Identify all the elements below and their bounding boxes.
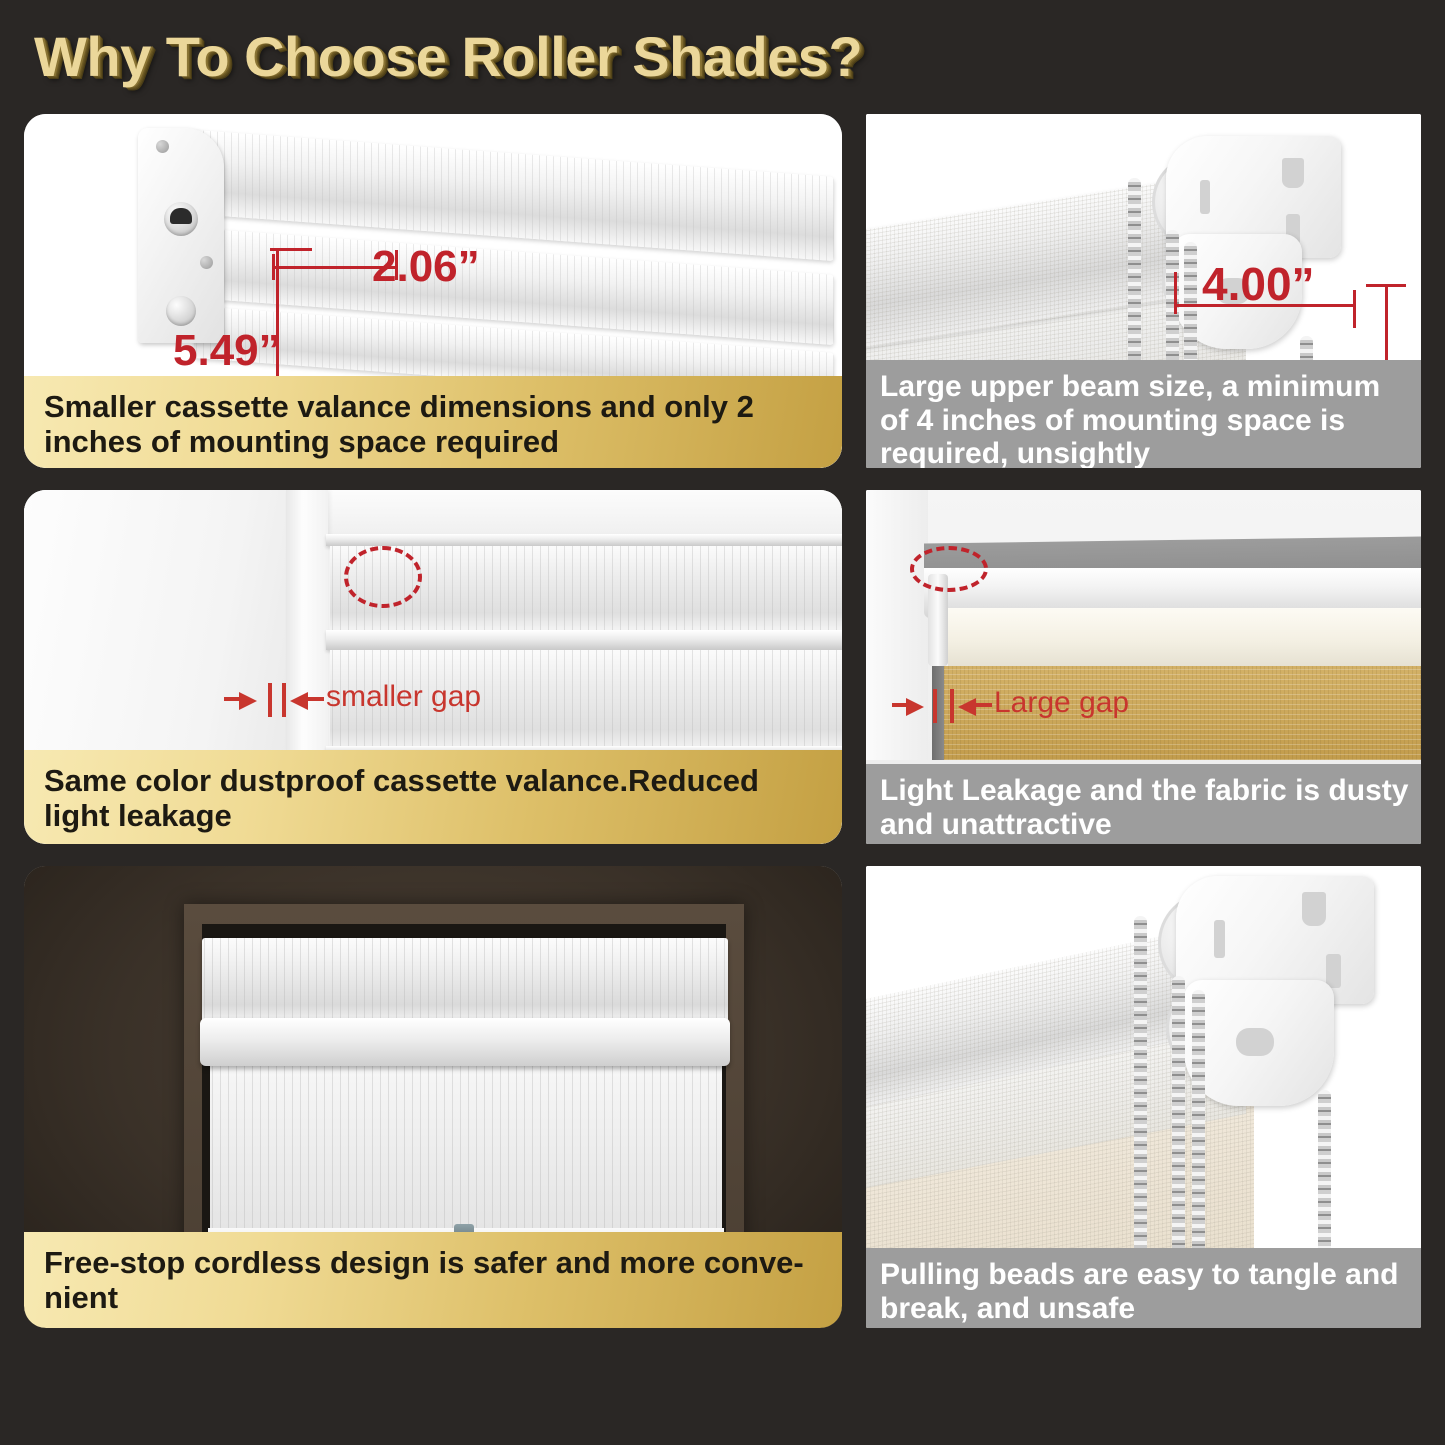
shade-middle-rail xyxy=(326,630,842,650)
caption-text: Large upper beam size, a minimum of 4 in… xyxy=(880,370,1409,468)
panel-top-right: 4.00” 4.00” Large upper beam size, a min… xyxy=(866,114,1421,468)
cassette-top-edge xyxy=(326,534,842,546)
gap-marker-bar xyxy=(282,683,286,717)
gap-arrow-tail xyxy=(892,703,910,707)
gap-callout-label: Large gap xyxy=(994,686,1129,720)
caption-panel-bottom-left: Free-stop cordless design is safer and m… xyxy=(24,1232,842,1328)
valance-end-cap xyxy=(138,128,224,343)
caption-panel-middle-right: Light Leakage and the fabric is dusty an… xyxy=(866,764,1421,844)
caption-text: Smaller cassette valance dimensions and … xyxy=(44,390,824,459)
caption-text: Pulling beads are easy to tangle and bre… xyxy=(880,1258,1409,1325)
gap-arrow-left-icon xyxy=(290,692,308,710)
window-frame-header xyxy=(286,490,842,534)
gap-arrow-right-icon xyxy=(906,698,924,716)
caption-panel-bottom-right: Pulling beads are easy to tangle and bre… xyxy=(866,1248,1421,1328)
screw-icon xyxy=(200,256,213,269)
page-title: Why To Choose Roller Shades? xyxy=(34,24,862,89)
height-dimension-label: 5.49” xyxy=(173,326,281,376)
wall-surface xyxy=(24,490,296,750)
window-frame-moulding xyxy=(286,490,328,750)
caption-text: Free-stop cordless design is safer and m… xyxy=(44,1246,804,1315)
screw-icon xyxy=(156,140,169,153)
highlight-ellipse-icon xyxy=(344,546,422,608)
beam-width-dimension-label: 4.00” xyxy=(1202,257,1315,311)
gap-arrow-left-icon xyxy=(958,698,976,716)
end-cap-bearing xyxy=(166,296,196,326)
white-valance-strip xyxy=(948,608,1421,666)
infographic-page: Why To Choose Roller Shades? 2.06” xyxy=(0,0,1445,1445)
caption-panel-top-right: Large upper beam size, a minimum of 4 in… xyxy=(866,360,1421,468)
caption-text: Same color dustproof cassette valance.Re… xyxy=(44,764,824,833)
gap-marker-bar xyxy=(950,689,954,723)
beam-width-tick-right xyxy=(1353,290,1356,328)
panel-middle-right: Large gap Light Leakage and the fabric i… xyxy=(866,490,1421,844)
caption-panel-top-left: Smaller cassette valance dimensions and … xyxy=(24,376,842,468)
width-dimension-label: 2.06” xyxy=(372,242,480,292)
mounting-bracket-lower xyxy=(1184,980,1334,1106)
shade-fabric-panel xyxy=(210,1062,722,1238)
gap-arrow-tail xyxy=(308,697,324,701)
gap-callout-label: smaller gap xyxy=(326,680,481,714)
header: Why To Choose Roller Shades? xyxy=(0,0,1445,112)
panel-bottom-left: Free-stop cordless design is safer and m… xyxy=(24,866,842,1328)
gap-arrow-right-icon xyxy=(239,692,257,710)
highlight-ellipse-icon xyxy=(910,546,988,592)
width-dimension-tick-left xyxy=(272,254,275,280)
beam-width-tick-left xyxy=(1174,272,1177,314)
cassette-valance xyxy=(202,938,728,1024)
beam-height-tick-top xyxy=(1366,284,1406,287)
panel-top-left: 2.06” 5.49” Smaller cassette valance dim… xyxy=(24,114,842,468)
panel-middle-left: smaller gap Same color dustproof cassett… xyxy=(24,490,842,844)
height-dimension-tick-top xyxy=(270,248,312,251)
panel-bottom-right: Pulling beads are easy to tangle and bre… xyxy=(866,866,1421,1328)
valance-front-rail xyxy=(200,1018,730,1066)
end-cap-socket xyxy=(164,202,198,236)
gap-marker-bar xyxy=(268,683,272,717)
gap-arrow-tail xyxy=(224,697,244,701)
caption-panel-middle-left: Same color dustproof cassette valance.Re… xyxy=(24,750,842,844)
window-side-jamb xyxy=(866,490,928,760)
caption-text: Light Leakage and the fabric is dusty an… xyxy=(880,774,1409,841)
gap-arrow-tail xyxy=(976,703,992,707)
gap-marker-bar xyxy=(933,689,937,723)
